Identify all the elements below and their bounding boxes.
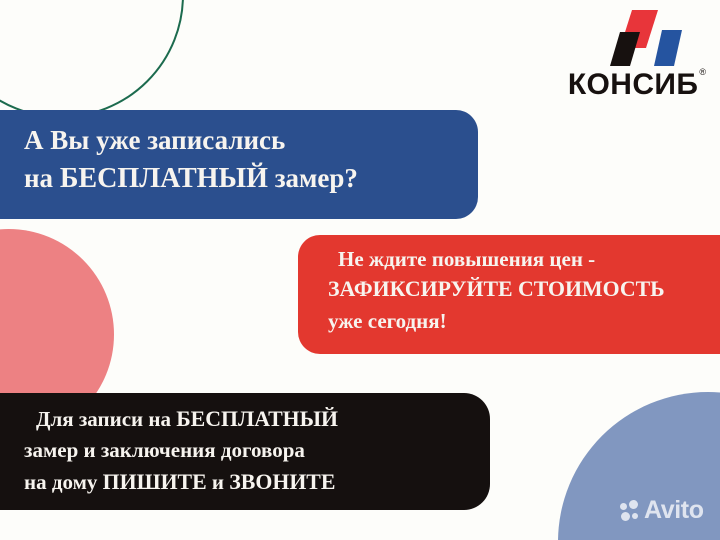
black-panel-line-1: Для записи на БЕСПЛАТНЫЙ xyxy=(24,403,490,435)
blue-line2-part-a: на xyxy=(24,163,60,193)
headline-panel-blue: А Вы уже записались на БЕСПЛАТНЫЙ замер? xyxy=(0,110,478,219)
red-panel-line-3: уже сегодня! xyxy=(328,306,720,336)
black-line1-part-a: Для записи на xyxy=(36,407,176,431)
blue-panel-line-1: А Вы уже записались xyxy=(24,121,478,159)
black-line3-highlight-write: ПИШИТЕ xyxy=(103,470,207,494)
avito-wordmark: Avito xyxy=(644,498,704,523)
red-panel-line-2: ЗАФИКСИРУЙТЕ СТОИМОСТЬ xyxy=(328,274,720,305)
logo-parallelogram-icon xyxy=(528,8,706,70)
black-line3-part-a: на дому xyxy=(24,470,103,494)
avito-dots-icon xyxy=(620,500,642,522)
black-line3-highlight-call: ЗВОНИТЕ xyxy=(229,470,335,494)
logo-wordmark-row: КОНСИБ ® xyxy=(528,70,706,100)
blue-panel-line-2: на БЕСПЛАТНЫЙ замер? xyxy=(24,159,478,199)
black-panel-line-3: на дому ПИШИТЕ и ЗВОНИТЕ xyxy=(24,466,490,498)
blue-line2-highlight: БЕСПЛАТНЫЙ xyxy=(60,163,268,194)
logo-wordmark: КОНСИБ xyxy=(568,70,699,100)
registered-trademark-icon: ® xyxy=(699,68,706,77)
black-line3-part-c: и xyxy=(207,470,230,494)
black-panel-line-2: замер и заключения договора xyxy=(24,435,490,466)
avito-watermark: Avito xyxy=(620,498,704,523)
blue-line2-part-c: замер? xyxy=(268,163,358,193)
cta-panel-black: Для записи на БЕСПЛАТНЫЙ замер и заключе… xyxy=(0,393,490,510)
urgency-panel-red: Не ждите повышения цен - ЗАФИКСИРУЙТЕ СТ… xyxy=(298,235,720,354)
black-line1-highlight: БЕСПЛАТНЫЙ xyxy=(176,407,338,431)
poster-canvas: КОНСИБ ® А Вы уже записались на БЕСПЛАТН… xyxy=(0,0,720,540)
red-panel-line-1: Не ждите повышения цен - xyxy=(328,244,720,274)
logo-mark-group xyxy=(528,8,706,70)
green-ring-decoration xyxy=(0,0,184,118)
company-logo: КОНСИБ ® xyxy=(528,8,706,104)
